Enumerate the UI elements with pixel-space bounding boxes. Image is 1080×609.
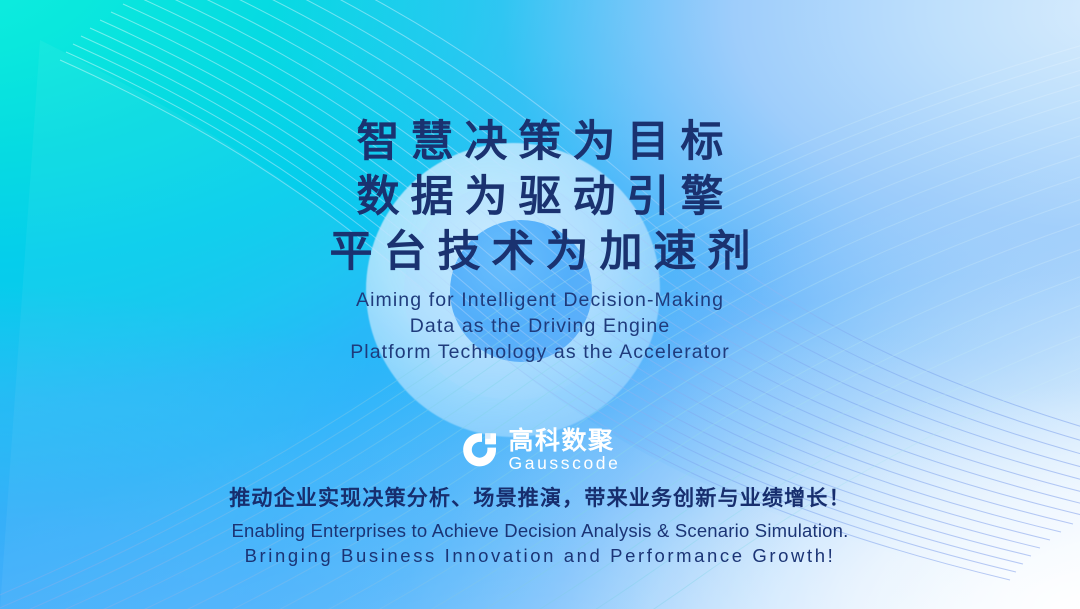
subtitle-line-1: Aiming for Intelligent Decision-Making <box>0 287 1080 313</box>
gausscode-logo-mark-icon <box>460 430 500 470</box>
headline-line-3: 平台技术为加速剂 <box>0 225 1080 280</box>
tagline-chinese: 推动企业实现决策分析、场景推演，带来业务创新与业绩增长！ <box>0 482 1080 512</box>
brand-logo: 高科数聚 Gausscode <box>0 428 1080 473</box>
tagline-english-line-2: Bringing Business Innovation and Perform… <box>0 543 1080 568</box>
brand-name-cn: 高科数聚 <box>509 428 621 453</box>
poster-canvas: 智慧决策为目标 数据为驱动引擎 平台技术为加速剂 Aiming for Inte… <box>0 0 1080 609</box>
headline-line-2: 数据为驱动引擎 <box>0 170 1080 225</box>
poster-content: 智慧决策为目标 数据为驱动引擎 平台技术为加速剂 Aiming for Inte… <box>0 0 1080 609</box>
brand-logo-text: 高科数聚 Gausscode <box>509 428 621 473</box>
subtitle-block: Aiming for Intelligent Decision-Making D… <box>0 287 1080 365</box>
tagline-english-line-1: Enabling Enterprises to Achieve Decision… <box>0 518 1080 543</box>
subtitle-line-2: Data as the Driving Engine <box>0 313 1080 339</box>
brand-name-en: Gausscode <box>509 455 621 473</box>
tagline-english-block: Enabling Enterprises to Achieve Decision… <box>0 518 1080 568</box>
headline-block: 智慧决策为目标 数据为驱动引擎 平台技术为加速剂 <box>0 115 1080 280</box>
subtitle-line-3: Platform Technology as the Accelerator <box>0 339 1080 365</box>
headline-line-1: 智慧决策为目标 <box>0 115 1080 170</box>
